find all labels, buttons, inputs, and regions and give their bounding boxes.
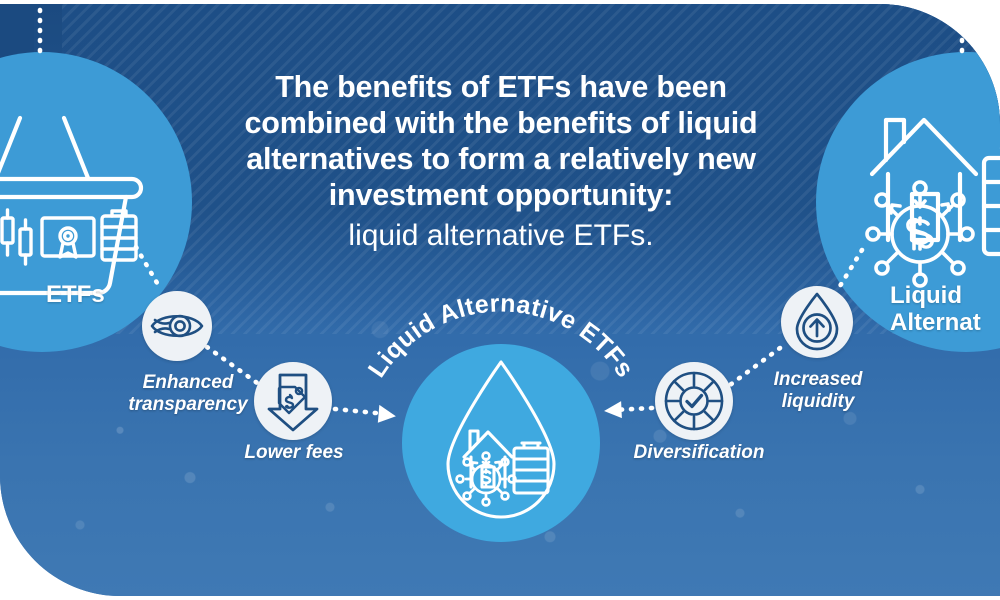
lower-fees-label: Lower fees [228, 442, 360, 464]
increased-liquidity-label: Increased liquidity [752, 369, 884, 414]
segmented-pie-check-icon [655, 362, 733, 440]
main-panel: ETFs [0, 4, 1000, 596]
down-arrow-price-tag-icon [254, 362, 332, 440]
droplet-up-arrow-icon [781, 286, 853, 358]
headline-bold: The benefits of ETFs have been combined … [245, 70, 758, 212]
curved-title-text: Liquid Alternative ETFs [363, 289, 640, 382]
lower-fees-node [254, 362, 332, 440]
liquid-alternatives-label-text: Liquid Alternat [890, 282, 981, 336]
headline-light: liquid alternative ETFs. [205, 218, 797, 253]
eye-icon [142, 291, 212, 361]
headline: The benefits of ETFs have been combined … [205, 70, 797, 253]
etfs-label: ETFs [46, 281, 105, 308]
liquid-alternatives-label: Liquid Alternat [890, 282, 1000, 337]
enhanced-transparency-node [142, 291, 212, 361]
diversification-label: Diversification [620, 442, 778, 464]
diversification-node [655, 362, 733, 440]
curved-title: Liquid Alternative ETFs [355, 280, 647, 440]
infographic-canvas: ETFs [0, 0, 1000, 600]
increased-liquidity-node [781, 286, 853, 358]
enhanced-transparency-label: Enhanced transparency [118, 372, 258, 417]
